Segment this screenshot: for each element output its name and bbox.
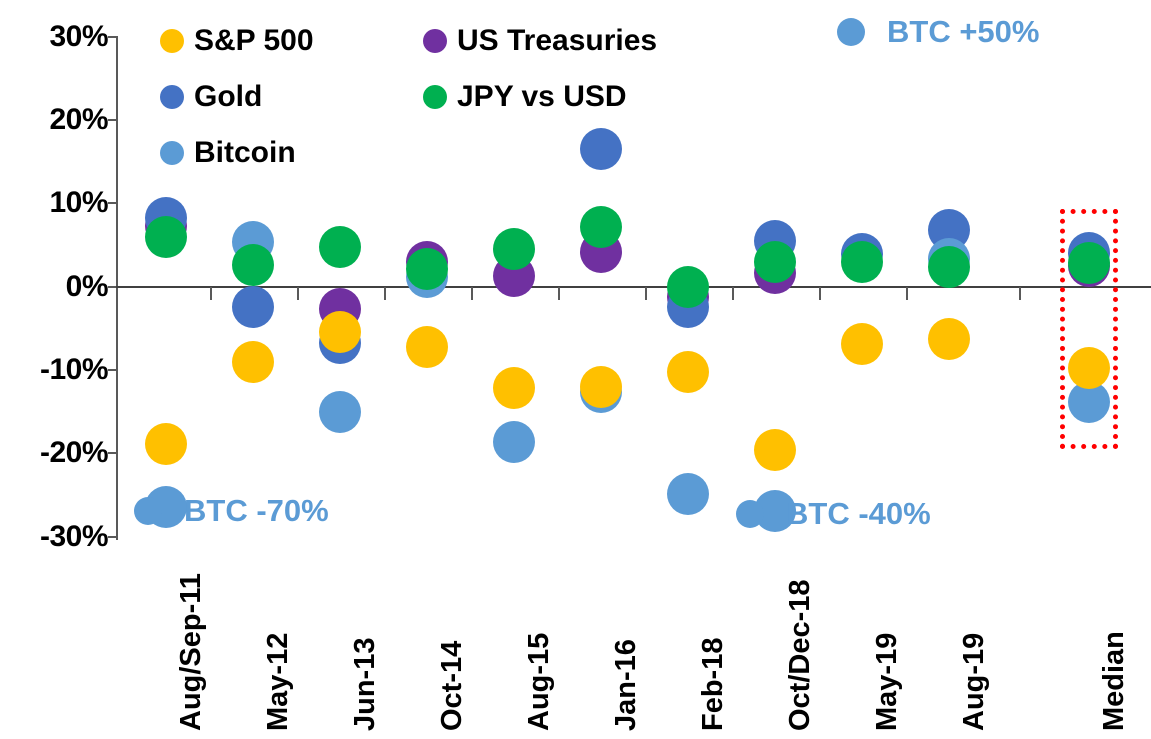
data-point — [145, 423, 187, 465]
annotation-label: BTC +50% — [887, 16, 1039, 47]
data-point — [1068, 347, 1110, 389]
x-axis-tick-label: Median — [1100, 631, 1129, 731]
x-axis-tick-mark — [210, 287, 212, 300]
x-axis-tick-mark — [1019, 287, 1021, 300]
x-axis-tick-mark — [645, 287, 647, 300]
y-axis-tick-label: -20% — [16, 438, 108, 468]
zero-baseline — [116, 286, 1151, 288]
data-point — [319, 226, 361, 268]
data-point — [232, 341, 274, 383]
x-axis-tick-label: Aug/Sep-11 — [177, 573, 206, 731]
data-point — [667, 266, 709, 308]
data-point — [754, 241, 796, 283]
y-axis-tick-label: 30% — [16, 22, 108, 52]
data-point — [754, 429, 796, 471]
legend-item-gold[interactable]: Gold — [160, 82, 262, 112]
legend-label: Bitcoin — [194, 138, 296, 168]
x-axis-tick-mark — [558, 287, 560, 300]
annotation-dot-icon — [134, 497, 162, 525]
data-point — [493, 367, 535, 409]
x-axis-tick-label: Jan-16 — [612, 639, 641, 731]
x-axis-tick-label: Oct-14 — [438, 641, 467, 731]
x-axis-tick-label: Jun-13 — [351, 638, 380, 731]
data-point — [667, 351, 709, 393]
data-point — [232, 286, 274, 328]
data-point — [493, 421, 535, 463]
x-axis-tick-mark — [906, 287, 908, 300]
data-point — [145, 216, 187, 258]
legend-swatch-icon — [160, 29, 184, 53]
y-axis-tick-label: 20% — [16, 105, 108, 135]
legend-swatch-icon — [160, 85, 184, 109]
data-point — [580, 128, 622, 170]
data-point — [319, 311, 361, 353]
data-point — [841, 241, 883, 283]
data-point — [667, 473, 709, 515]
annotation-dot-icon — [837, 18, 865, 46]
y-axis-tick-label: 10% — [16, 188, 108, 218]
data-point — [580, 366, 622, 408]
x-axis-tick-label: Aug-15 — [525, 633, 554, 731]
x-axis-tick-mark — [819, 287, 821, 300]
x-axis-tick-mark — [471, 287, 473, 300]
data-point — [1068, 242, 1110, 284]
data-point — [928, 318, 970, 360]
legend-item-bitcoin[interactable]: Bitcoin — [160, 138, 296, 168]
x-axis-tick-label: Feb-18 — [699, 638, 728, 731]
scatter-chart: 30%20%10%0%-10%-20%-30% Aug/Sep-11May-12… — [0, 0, 1151, 739]
data-point — [580, 206, 622, 248]
x-axis-tick-label: May-19 — [873, 633, 902, 731]
y-axis-tick-label: -30% — [16, 522, 108, 552]
y-axis-tick-label: -10% — [16, 355, 108, 385]
legend-label: S&P 500 — [194, 26, 314, 56]
legend-label: JPY vs USD — [457, 82, 627, 112]
x-axis-tick-mark — [297, 287, 299, 300]
y-axis-line — [116, 36, 118, 540]
y-axis-tick-label: 0% — [16, 272, 108, 302]
x-axis-tick-mark — [384, 287, 386, 300]
legend-item-s-p-500[interactable]: S&P 500 — [160, 26, 314, 56]
x-axis-tick-label: Aug-19 — [960, 633, 989, 731]
data-point — [406, 326, 448, 368]
annotation-label: BTC -40% — [786, 498, 931, 529]
legend-swatch-icon — [160, 141, 184, 165]
data-point — [406, 248, 448, 290]
data-point — [232, 244, 274, 286]
annotation-label: BTC -70% — [184, 495, 329, 526]
x-axis-tick-label: May-12 — [264, 633, 293, 731]
annotation-btc-plus-50: BTC +50% — [837, 16, 1039, 47]
x-axis-tick-mark — [732, 287, 734, 300]
legend-item-jpy-vs-usd[interactable]: JPY vs USD — [423, 82, 627, 112]
legend-label: US Treasuries — [457, 26, 657, 56]
data-point — [841, 323, 883, 365]
data-point — [319, 391, 361, 433]
legend-swatch-icon — [423, 29, 447, 53]
legend-item-us-treasuries[interactable]: US Treasuries — [423, 26, 657, 56]
annotation-btc-minus-40: BTC -40% — [736, 498, 931, 529]
data-point — [493, 228, 535, 270]
legend-swatch-icon — [423, 85, 447, 109]
annotation-dot-icon — [736, 500, 764, 528]
legend-label: Gold — [194, 82, 262, 112]
data-point — [928, 246, 970, 288]
annotation-btc-minus-70: BTC -70% — [134, 495, 329, 526]
x-axis-tick-label: Oct/Dec-18 — [786, 579, 815, 731]
